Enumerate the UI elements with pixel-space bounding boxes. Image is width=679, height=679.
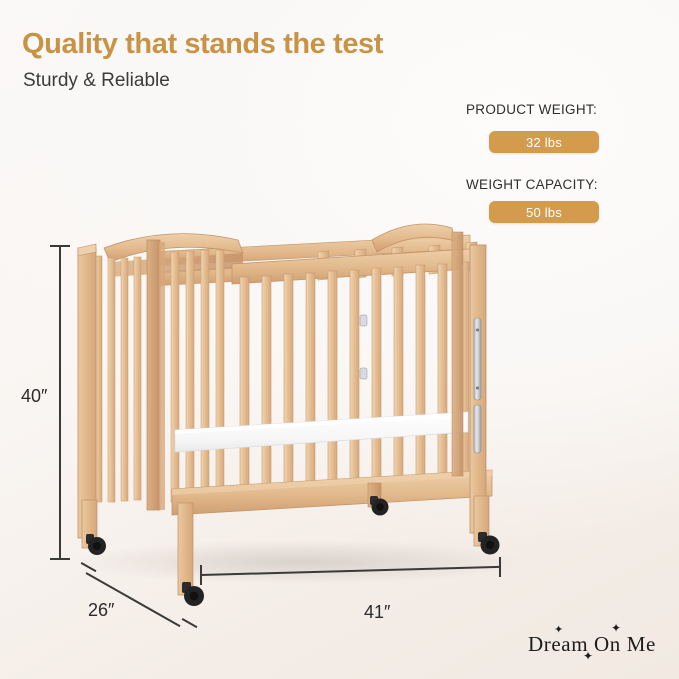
height-cap-bottom (50, 558, 70, 560)
star-icon: ✦ (611, 622, 621, 634)
infographic-page: Quality that stands the test Sturdy & Re… (0, 0, 679, 679)
depth-dimension-label: 26″ (88, 600, 114, 621)
crib-illustration (0, 0, 679, 679)
star-icon: ✦ (554, 624, 563, 635)
caster-wheel (86, 534, 106, 555)
width-cap-left (200, 565, 202, 585)
height-cap-top (50, 245, 70, 247)
height-dimension-label: 40″ (21, 386, 47, 407)
width-dimension-label: 41″ (364, 602, 390, 623)
star-icon: ✦ (583, 650, 593, 662)
height-dimension-line (59, 246, 61, 560)
width-cap-right (499, 557, 501, 577)
